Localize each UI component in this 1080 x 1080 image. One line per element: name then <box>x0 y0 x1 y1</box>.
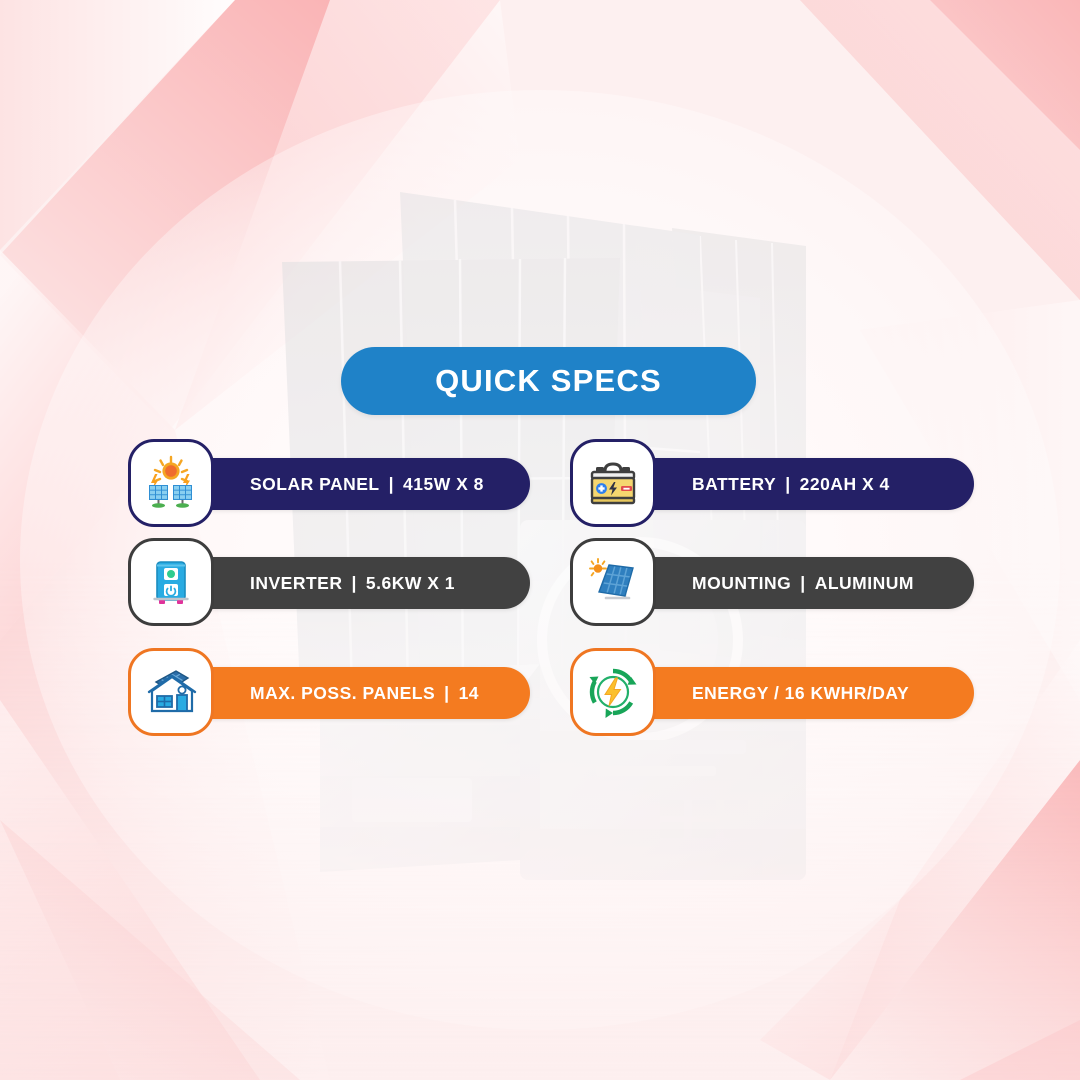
infographic-content: QUICK SPECS SOLAR PANEL|415W X 8 <box>0 0 1080 1080</box>
spec-value-inverter: 5.6KW X 1 <box>366 573 455 593</box>
spec-separator: | <box>776 474 799 494</box>
spec-bar-inverter: INVERTER|5.6KW X 1 <box>170 557 530 609</box>
spec-row-max-panels[interactable]: MAX. POSS. PANELS|14 <box>128 648 530 736</box>
spec-label-mounting: MOUNTING <box>692 573 791 593</box>
spec-label-energy: ENERGY / 16 KWHR/DAY <box>692 683 909 703</box>
inverter-icon <box>144 555 198 609</box>
solar-mount-icon <box>585 554 641 610</box>
spec-bar-solar-panel: SOLAR PANEL|415W X 8 <box>170 458 530 510</box>
solar-house-icon-badge[interactable] <box>128 648 214 736</box>
battery-icon-badge[interactable] <box>570 439 656 527</box>
spec-separator: | <box>435 683 458 703</box>
renewable-energy-icon <box>586 665 640 719</box>
solar-panel-icon <box>142 454 200 512</box>
battery-icon <box>585 455 641 511</box>
spec-row-battery[interactable]: BATTERY|220AH X 4 <box>570 439 974 527</box>
spec-separator: | <box>380 474 403 494</box>
spec-bar-mounting: MOUNTING|ALUMINUM <box>612 557 974 609</box>
spec-row-mounting[interactable]: MOUNTING|ALUMINUM <box>570 538 974 626</box>
spec-text-battery: BATTERY|220AH X 4 <box>692 474 890 495</box>
solar-house-icon <box>142 663 200 721</box>
spec-row-energy[interactable]: ENERGY / 16 KWHR/DAY <box>570 648 974 736</box>
spec-text-max-panels: MAX. POSS. PANELS|14 <box>250 683 479 704</box>
spec-label-battery: BATTERY <box>692 474 776 494</box>
solar-panel-icon-badge[interactable] <box>128 439 214 527</box>
spec-value-mounting: ALUMINUM <box>815 573 914 593</box>
spec-label-inverter: INVERTER <box>250 573 342 593</box>
inverter-icon-badge[interactable] <box>128 538 214 626</box>
solar-mount-icon-badge[interactable] <box>570 538 656 626</box>
spec-value-max-panels: 14 <box>459 683 479 703</box>
spec-row-inverter[interactable]: INVERTER|5.6KW X 1 <box>128 538 530 626</box>
page-title: QUICK SPECS <box>341 347 756 415</box>
spec-text-solar-panel: SOLAR PANEL|415W X 8 <box>250 474 484 495</box>
spec-value-solar-panel: 415W X 8 <box>403 474 484 494</box>
spec-text-inverter: INVERTER|5.6KW X 1 <box>250 573 455 594</box>
spec-value-battery: 220AH X 4 <box>800 474 890 494</box>
spec-bar-energy: ENERGY / 16 KWHR/DAY <box>612 667 974 719</box>
spec-text-mounting: MOUNTING|ALUMINUM <box>692 573 914 594</box>
spec-label-solar-panel: SOLAR PANEL <box>250 474 380 494</box>
spec-bar-battery: BATTERY|220AH X 4 <box>612 458 974 510</box>
spec-bar-max-panels: MAX. POSS. PANELS|14 <box>170 667 530 719</box>
spec-separator: | <box>342 573 365 593</box>
spec-row-solar-panel[interactable]: SOLAR PANEL|415W X 8 <box>128 439 530 527</box>
spec-separator: | <box>791 573 814 593</box>
page-title-label: QUICK SPECS <box>435 363 662 399</box>
renewable-energy-icon-badge[interactable] <box>570 648 656 736</box>
spec-label-max-panels: MAX. POSS. PANELS <box>250 683 435 703</box>
spec-text-energy: ENERGY / 16 KWHR/DAY <box>692 683 909 704</box>
